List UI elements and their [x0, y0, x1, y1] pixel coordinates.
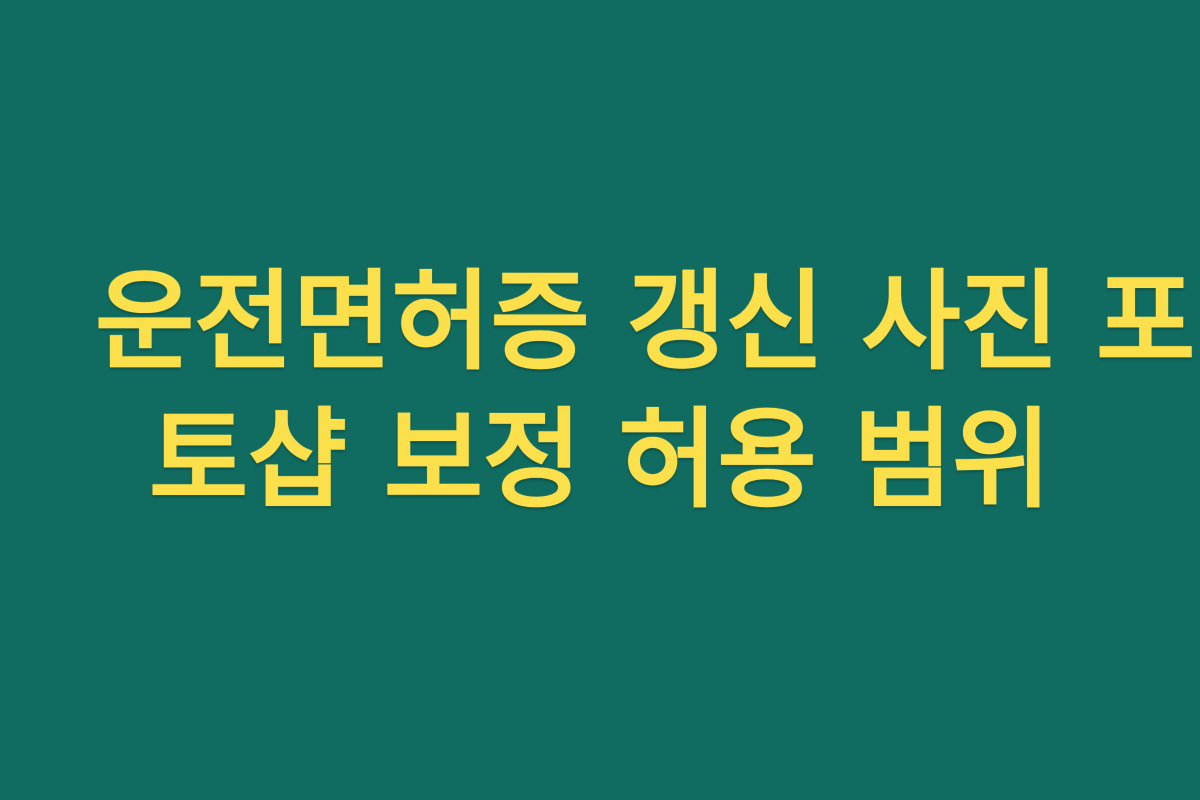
- page-title: 운전면허증 갱신 사진 포 토샵 보정 허용 범위: [95, 254, 1105, 530]
- page-title-line-1: 운전면허증 갱신 사진 포: [95, 254, 1105, 392]
- page-title-line-2: 토샵 보정 허용 범위: [95, 392, 1105, 530]
- banner-canvas: 운전면허증 갱신 사진 포 토샵 보정 허용 범위 운전면허증 갱신 사진 포토…: [0, 0, 1200, 800]
- headline-block: 운전면허증 갱신 사진 포 토샵 보정 허용 범위 운전면허증 갱신 사진 포토…: [95, 254, 1105, 530]
